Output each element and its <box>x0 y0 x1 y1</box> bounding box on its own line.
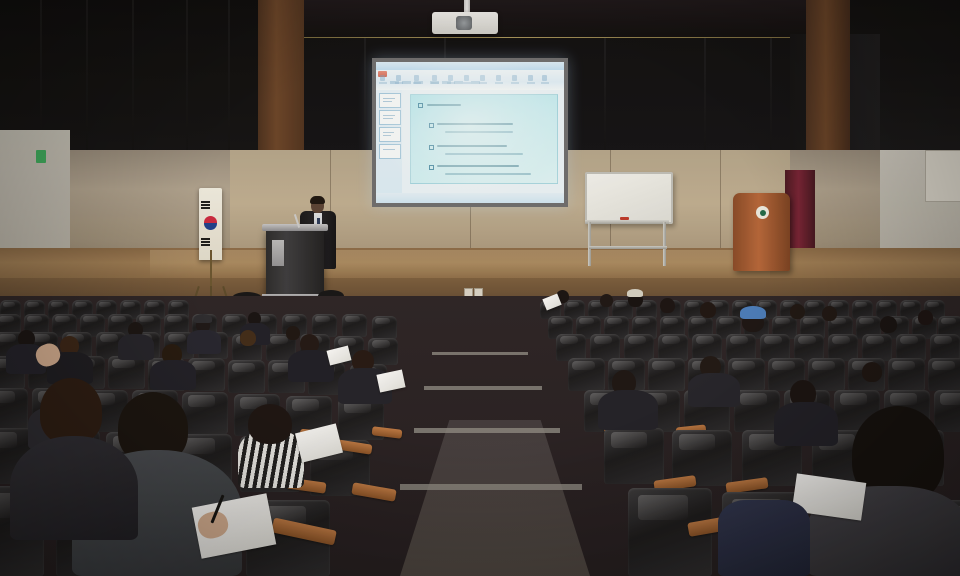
mobile-whiteboard <box>585 172 673 224</box>
podium-top-surface <box>262 224 328 231</box>
projection-screen-frame <box>372 58 568 207</box>
presentation-statusbar <box>376 193 564 203</box>
institution-emblem-icon <box>756 206 769 219</box>
stage-valance <box>304 0 806 40</box>
audience-head <box>862 362 882 382</box>
slide-thumbnail[interactable] <box>379 127 401 142</box>
current-slide <box>410 94 558 184</box>
presenter-hair <box>310 196 325 204</box>
wooden-lectern-cabinet <box>733 193 790 271</box>
whiteboard-leg <box>588 222 591 266</box>
projection-screen <box>376 62 564 203</box>
audience-head <box>918 310 933 325</box>
audience-head <box>822 306 837 321</box>
wall-control-panel <box>925 150 960 202</box>
presentation-titlebar <box>376 62 564 70</box>
whiteboard-crossbar <box>589 246 667 249</box>
audience-head <box>240 330 256 346</box>
audience-head <box>286 326 300 340</box>
audience-head <box>600 294 613 307</box>
audience-cap <box>627 289 643 297</box>
whiteboard-marker <box>620 217 629 220</box>
slide-thumbnail[interactable] <box>379 144 401 159</box>
whiteboard-leg <box>663 222 666 266</box>
ribbon-tab-strip[interactable] <box>390 71 483 74</box>
exit-sign-icon <box>36 150 46 163</box>
audience-head <box>248 404 292 444</box>
auditorium-photo <box>0 0 960 576</box>
audience-head <box>660 298 675 313</box>
projector-lens-icon <box>456 16 472 30</box>
podium-control-panel <box>272 240 284 266</box>
audience-cap <box>740 306 766 319</box>
slide-thumbnail[interactable] <box>379 110 401 125</box>
slide-thumbnail[interactable] <box>379 93 401 108</box>
audience-head <box>880 316 897 333</box>
attendee-lap <box>718 500 810 576</box>
whiteboard-marker-tray <box>585 220 669 224</box>
taeguk-blue <box>204 223 217 230</box>
audience-cap <box>194 314 212 323</box>
audience-head <box>700 302 716 318</box>
taeguk-red <box>204 216 217 223</box>
audience-head <box>790 304 805 319</box>
stage-reflection <box>150 250 770 280</box>
foreground-attendee-head <box>40 378 102 444</box>
slide-thumbnail-pane[interactable] <box>376 90 402 193</box>
